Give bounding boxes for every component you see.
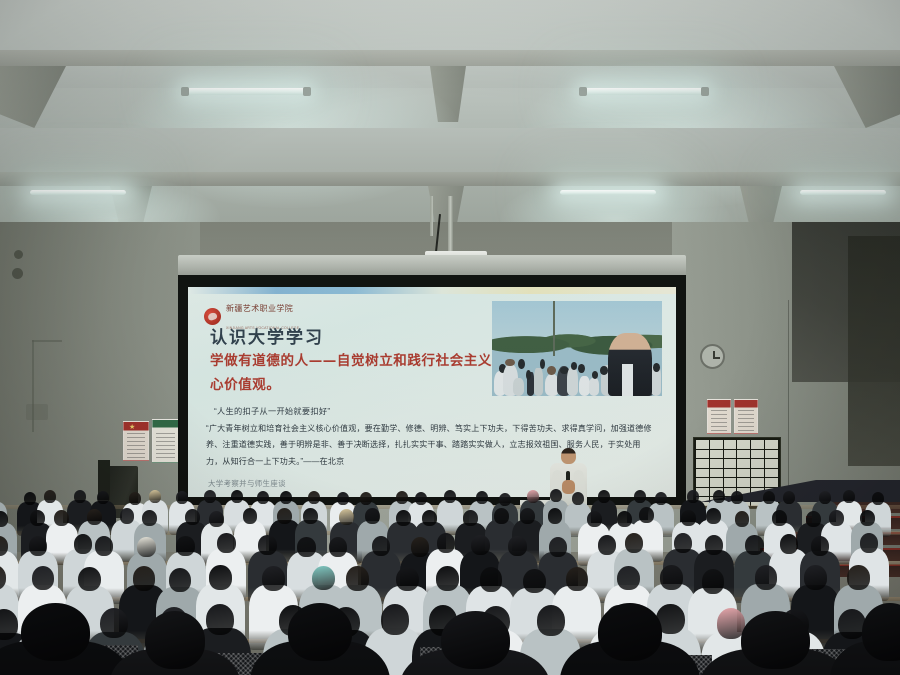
key-cabinet-cell[interactable] xyxy=(751,450,764,459)
audience-member-head xyxy=(365,508,380,524)
key-cabinet-cell[interactable] xyxy=(765,459,778,468)
audience-member-head xyxy=(169,568,192,593)
foreground-audience-member xyxy=(830,603,900,675)
notice-poster-green xyxy=(152,419,179,463)
wall-fixture-dot-1 xyxy=(14,250,23,259)
audience-member-head xyxy=(523,569,546,594)
key-cabinet-cell[interactable] xyxy=(696,450,709,459)
star-icon: ★ xyxy=(129,425,135,431)
audience-member-head xyxy=(655,492,667,505)
key-cabinet-cell[interactable] xyxy=(751,478,764,487)
audience-member-head xyxy=(463,510,478,526)
key-cabinet-cell[interactable] xyxy=(724,450,737,459)
audience-member-head xyxy=(829,510,844,526)
audience-member-head xyxy=(24,492,36,505)
audience-member-head xyxy=(87,509,102,525)
projector-mount-rod-secondary xyxy=(430,196,433,236)
audience-member-head xyxy=(176,536,194,556)
notice-poster-right-2 xyxy=(734,399,758,434)
audience-member-head xyxy=(811,536,829,556)
audience-member-head xyxy=(74,490,86,503)
audience-member-head xyxy=(772,510,787,526)
audience-member-head xyxy=(78,567,101,592)
audience-member-head xyxy=(550,489,562,502)
key-cabinet-cell[interactable] xyxy=(696,478,709,487)
key-cabinet-cell[interactable] xyxy=(751,459,764,468)
audience-member-head xyxy=(763,491,775,504)
audience-member-head xyxy=(396,510,411,526)
foreground-head xyxy=(21,603,90,661)
slide-quote: “人生的扣子从一开始就要扣好” xyxy=(214,405,330,417)
audience-member-head xyxy=(731,491,743,504)
audience-member-head xyxy=(587,511,602,527)
photo-person xyxy=(534,368,542,396)
audience-member-head xyxy=(480,567,503,592)
foreground-head xyxy=(288,603,352,661)
audience-member-head xyxy=(705,535,723,555)
audience-member-head xyxy=(209,565,232,590)
audience-member-head xyxy=(780,534,798,554)
wall-switch-panel[interactable] xyxy=(26,404,48,420)
key-cabinet-cell[interactable] xyxy=(724,478,737,487)
audience-member-head xyxy=(372,536,390,556)
audience-member-head xyxy=(617,566,640,591)
audience-member-head xyxy=(44,490,56,503)
key-cabinet-cell[interactable] xyxy=(710,459,723,468)
audience-member-head xyxy=(360,492,372,505)
key-cabinet-cell[interactable] xyxy=(724,440,737,449)
audience-member-head xyxy=(120,508,135,524)
fluorescent-tube-1 xyxy=(185,88,307,95)
key-cabinet-cell[interactable] xyxy=(751,469,764,478)
institution-name: 新疆艺术职业学院 xyxy=(226,304,293,313)
audience-member-head xyxy=(277,508,292,524)
audience-member-head xyxy=(499,493,511,506)
audience-member-head xyxy=(258,535,276,555)
audience-member-head xyxy=(149,490,161,503)
audience-member-head xyxy=(471,535,489,555)
key-cabinet-cell[interactable] xyxy=(737,469,750,478)
photo-person-head xyxy=(540,359,545,369)
audience-member-head xyxy=(819,491,831,504)
audience-member-head xyxy=(674,533,692,553)
tube-endcap xyxy=(579,87,587,96)
audience-member-head xyxy=(329,537,347,557)
audience-member-head xyxy=(745,535,763,555)
lecture-hall-scene: ★ 新疆艺术职业学院 XINJIANG ARTS VOCATIONAL COLL… xyxy=(0,0,900,675)
screen-roller-housing xyxy=(178,255,686,277)
audience-member-head xyxy=(133,566,156,591)
audience-member-head xyxy=(617,511,632,527)
key-cabinet-cell[interactable] xyxy=(710,440,723,449)
wall-fixture-dot-2 xyxy=(12,268,23,279)
seated-audience xyxy=(0,495,900,675)
key-cabinet-cell[interactable] xyxy=(710,450,723,459)
audience-member-head xyxy=(217,533,235,553)
audience-member-head xyxy=(520,508,535,524)
photo-person xyxy=(589,378,599,396)
photo-person-head xyxy=(592,371,598,378)
audience-member-head xyxy=(142,510,157,526)
photo-person-head xyxy=(518,359,524,369)
poster-text-lines xyxy=(738,410,754,431)
audience-member-head xyxy=(494,508,509,524)
key-cabinet-cell[interactable] xyxy=(724,469,737,478)
key-cabinet-cell[interactable] xyxy=(737,478,750,487)
audience-member-head xyxy=(30,510,45,526)
key-cabinet-cell[interactable] xyxy=(696,459,709,468)
presenter-head xyxy=(561,448,576,464)
audience-member-head xyxy=(681,510,696,526)
audience-member-head xyxy=(303,508,318,524)
key-cabinet-cell[interactable] xyxy=(724,459,737,468)
fluorescent-tube-3 xyxy=(30,190,126,195)
audience-member-head xyxy=(860,510,875,526)
audience-member-head xyxy=(308,491,320,504)
slide-photo xyxy=(492,301,662,396)
audience-member-head xyxy=(280,491,292,504)
audience-member-head xyxy=(95,536,113,556)
audience-member-head xyxy=(262,566,285,591)
wall-clock xyxy=(700,344,725,369)
audience-member-head xyxy=(346,566,369,591)
audience-member-head xyxy=(625,533,643,553)
photo-person-head xyxy=(547,366,555,375)
photo-person-head xyxy=(578,364,585,373)
foreground-head xyxy=(145,611,205,669)
audience-member-head xyxy=(297,537,315,557)
slide-body-text: “广大青年树立和培育社会主义核心价值观，要在勤学、修德、明辨、笃实上下功夫，下得… xyxy=(206,421,656,470)
dark-curtain-right xyxy=(848,236,900,466)
key-cabinet-cell[interactable] xyxy=(696,469,709,478)
audience-member-head xyxy=(806,511,821,527)
audience-member-head xyxy=(257,491,269,504)
key-cabinet-cell[interactable] xyxy=(765,469,778,478)
projection-screen-frame: 新疆艺术职业学院 XINJIANG ARTS VOCATIONAL COLLEG… xyxy=(178,275,686,505)
audience-member-head xyxy=(735,511,750,527)
slide-headline: 学做有道德的人——自觉树立和践行社会主义核心价值观。 xyxy=(210,350,510,397)
foreground-audience-member xyxy=(560,603,700,675)
slide-title: 认识大学学习 xyxy=(210,323,324,348)
key-cabinet-cell[interactable] xyxy=(765,440,778,449)
audience-member-head xyxy=(396,567,419,592)
poster-text-lines xyxy=(156,433,175,460)
audience-member-head xyxy=(137,537,155,557)
foreground-head xyxy=(741,611,810,669)
key-cabinet-cell[interactable] xyxy=(696,440,709,449)
key-cabinet-cell[interactable] xyxy=(737,459,750,468)
key-cabinet-cell[interactable] xyxy=(710,478,723,487)
audience-member-head xyxy=(396,491,408,504)
foreground-audience-member xyxy=(250,603,390,675)
audience-member-head xyxy=(639,507,654,523)
audience-member-head xyxy=(783,491,795,504)
key-cabinet-cell[interactable] xyxy=(765,478,778,487)
audience-member-head xyxy=(847,565,870,590)
audience-member-head xyxy=(804,565,827,590)
photo-person xyxy=(567,367,578,396)
key-cabinet-cell[interactable] xyxy=(710,469,723,478)
tube-endcap xyxy=(701,87,709,96)
audience-member-head xyxy=(755,565,778,590)
audience-member-head xyxy=(97,491,109,504)
slide-source-line: 大学考察并与师生座谈 xyxy=(208,478,286,489)
foreground-audience-member xyxy=(400,611,550,675)
audience-member-head xyxy=(243,508,258,524)
audience-member-head xyxy=(660,565,683,590)
audience-member-head xyxy=(209,511,224,527)
fluorescent-tube-5 xyxy=(800,190,886,195)
notice-poster-red: ★ xyxy=(123,421,149,461)
photo-person-head xyxy=(600,366,608,374)
audience-member-head xyxy=(860,533,878,553)
projector-mount-rod xyxy=(448,196,453,254)
audience-member-head xyxy=(436,566,459,591)
audience-member-head xyxy=(185,509,200,525)
poster-text-lines xyxy=(711,410,727,431)
audience-member-head xyxy=(422,510,437,526)
audience-member-head xyxy=(415,492,427,505)
key-cabinet-cell[interactable] xyxy=(765,450,778,459)
audience-member-head xyxy=(508,536,526,556)
fluorescent-tube-2 xyxy=(583,88,705,95)
key-cabinet-cell[interactable] xyxy=(737,450,750,459)
foreground-head xyxy=(598,603,662,661)
wall-conduit-horizontal xyxy=(32,340,62,342)
key-cabinet-cell[interactable] xyxy=(751,440,764,449)
audience-member-head xyxy=(231,490,243,503)
projection-screen: 新疆艺术职业学院 XINJIANG ARTS VOCATIONAL COLLEG… xyxy=(188,287,676,497)
audience-member-head xyxy=(549,537,567,557)
tube-endcap xyxy=(303,87,311,96)
notice-poster-right-1 xyxy=(707,399,731,434)
audience-member-head xyxy=(176,491,188,504)
audience-member-head xyxy=(437,533,455,553)
tube-endcap xyxy=(181,87,189,96)
ceiling-beam-face-1 xyxy=(0,50,900,66)
slide-accent-bar xyxy=(188,287,676,294)
photo-person xyxy=(513,378,523,396)
audience-member-head xyxy=(634,490,646,503)
photo-leader-shirt xyxy=(622,364,633,396)
audience-member-head xyxy=(687,490,699,503)
audience-member-head xyxy=(548,508,563,524)
audience-member-head xyxy=(339,509,354,525)
fluorescent-tube-4 xyxy=(560,190,656,195)
photo-person-head xyxy=(526,370,531,380)
audience-member-head xyxy=(204,490,216,503)
audience-member-head xyxy=(54,510,69,526)
poster-text-lines xyxy=(127,433,145,457)
college-emblem-icon xyxy=(204,308,221,325)
foreground-audience-member xyxy=(110,611,240,675)
audience-member-head xyxy=(476,491,488,504)
foreground-head xyxy=(441,611,510,669)
audience-member-head xyxy=(702,569,725,594)
audience-member-head xyxy=(29,536,47,556)
audience-member-head xyxy=(527,490,539,503)
audience-member-head xyxy=(566,567,589,592)
key-cabinet-cell[interactable] xyxy=(737,440,750,449)
audience-member-head xyxy=(312,566,335,591)
audience-member-head xyxy=(706,508,721,524)
audience-member-head xyxy=(337,492,349,505)
foreground-audience-member xyxy=(700,611,850,675)
audience-member-head xyxy=(32,566,55,591)
photo-person-head xyxy=(653,363,660,372)
wall-seam-right xyxy=(788,300,789,500)
audience-member-head xyxy=(444,490,456,503)
foreground-head xyxy=(862,603,900,661)
